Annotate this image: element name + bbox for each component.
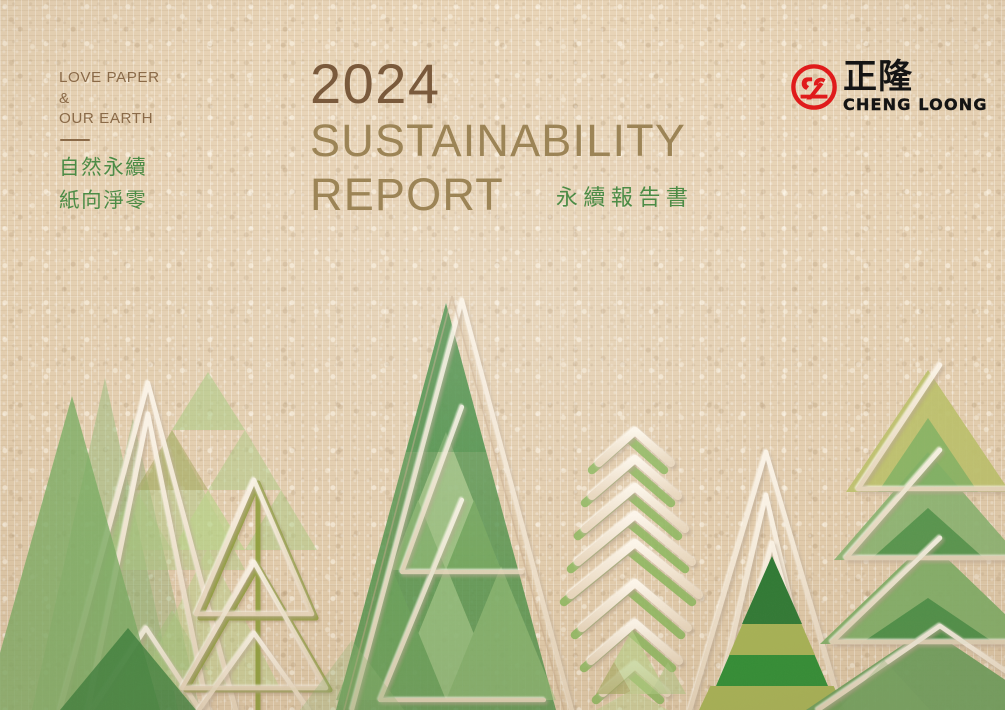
tagline-line-3: OUR EARTH bbox=[59, 109, 269, 130]
title-chinese: 永續報告書 bbox=[556, 180, 694, 212]
company-logo: 正隆 CHENG LOONG bbox=[790, 60, 988, 114]
logo-english-name: CHENG LOONG bbox=[843, 96, 988, 114]
title-block: 2024 SUSTAINABILITY REPORT 永續報告書 bbox=[310, 55, 693, 222]
tagline-divider bbox=[60, 139, 90, 142]
title-line-2: REPORT bbox=[310, 168, 504, 222]
tagline-chinese-line-2: 紙向淨零 bbox=[59, 184, 269, 217]
tagline-chinese-line-1: 自然永續 bbox=[59, 151, 269, 184]
logo-text-block: 正隆 CHENG LOONG bbox=[843, 60, 988, 114]
tagline-line-1: LOVE PAPER bbox=[59, 68, 269, 89]
tagline-block: LOVE PAPER & OUR EARTH 自然永續 紙向淨零 bbox=[59, 68, 269, 217]
cheng-loong-emblem-icon bbox=[790, 63, 838, 111]
title-line-1: SUSTAINABILITY bbox=[310, 113, 693, 168]
logo-chinese-name: 正隆 bbox=[843, 60, 988, 94]
report-year: 2024 bbox=[310, 55, 693, 113]
report-cover: LOVE PAPER & OUR EARTH 自然永續 紙向淨零 2024 SU… bbox=[0, 0, 1005, 710]
tagline-line-2: & bbox=[59, 89, 269, 110]
